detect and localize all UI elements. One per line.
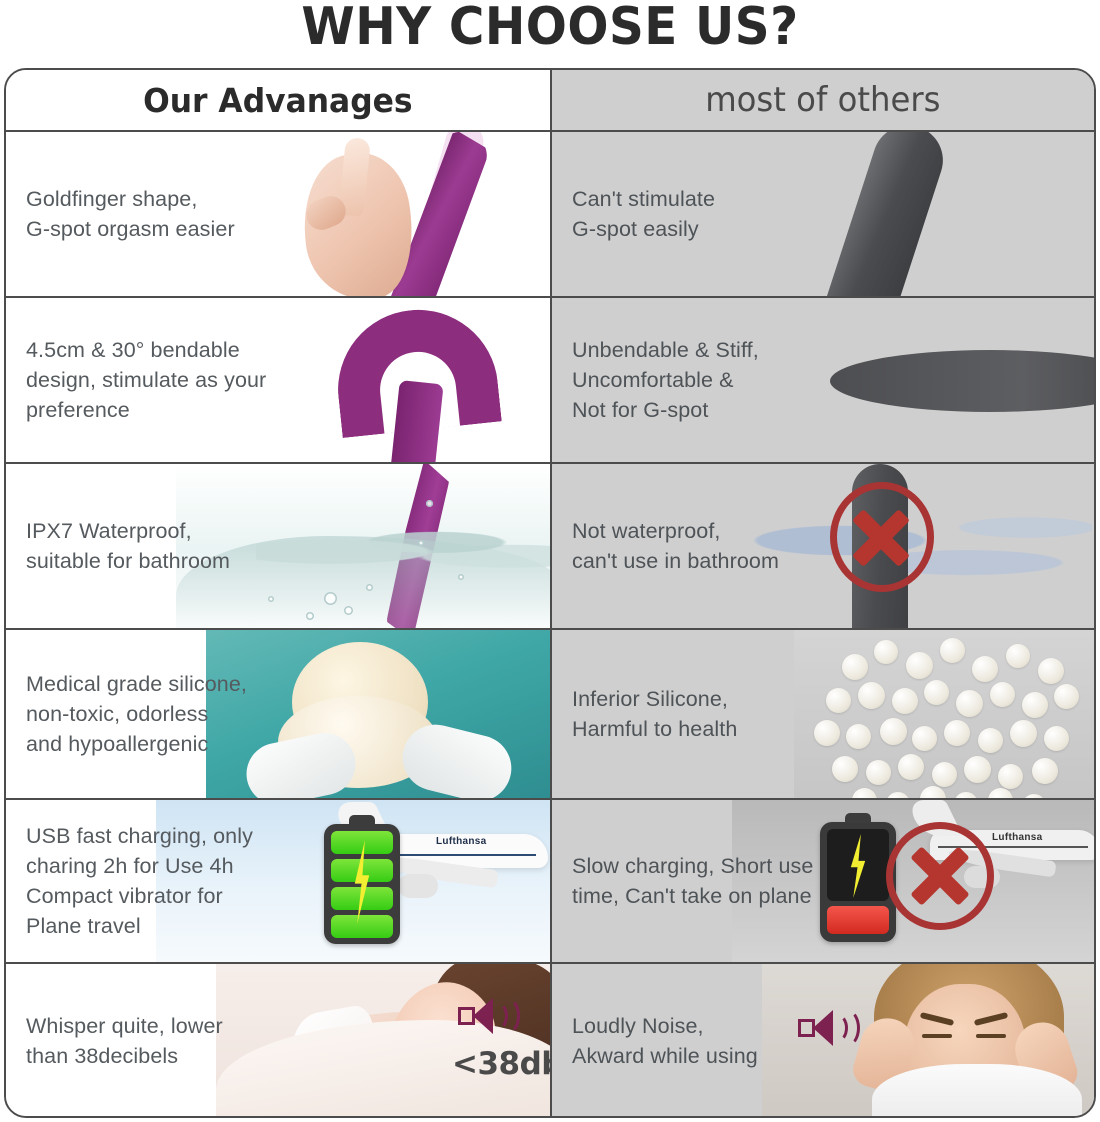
row-noise-advantage-text: Whisper quite, lower than 38decibels (6, 1011, 223, 1071)
table-header-row: Our Advanages most of others (6, 70, 1094, 132)
header-label-right: most of others (705, 80, 940, 120)
row-waterproof-advantage-text: IPX7 Waterproof, suitable for bathroom (6, 516, 230, 576)
row-waterproof-other-text: Not waterproof, can't use in bathroom (552, 516, 779, 576)
plane-airline-label: Lufthansa (436, 836, 486, 847)
table-row: <38db Whisper quite, lower than 38decibe… (6, 964, 1094, 1118)
speaker-icon (458, 998, 514, 1034)
row-charging-advantage-text: USB fast charging, only charing 2h for U… (6, 821, 253, 941)
row-noise-advantage-cell: <38db Whisper quite, lower than 38decibe… (6, 964, 552, 1118)
header-cell-most-of-others: most of others (552, 70, 1094, 130)
row-goldfinger-other-text: Can't stimulate G-spot easily (552, 184, 715, 244)
table-row: Medical grade silicone, non-toxic, odorl… (6, 630, 1094, 800)
db-badge: <38db (452, 1046, 552, 1082)
table-row: Lufthansa USB fast charging, only charin… (6, 800, 1094, 964)
row-charging-other-text: Slow charging, Short use time, Can't tak… (552, 851, 813, 911)
row-silicone-advantage-cell: Medical grade silicone, non-toxic, odorl… (6, 630, 552, 798)
red-x-icon (848, 510, 914, 566)
table-row: IPX7 Waterproof, suitable for bathroom N… (6, 464, 1094, 630)
speaker-icon (798, 1010, 854, 1046)
infographic-page: WHY CHOOSE US? Our Advanages most of oth… (0, 0, 1100, 1122)
page-title: WHY CHOOSE US? (39, 0, 1062, 58)
row-charging-advantage-cell: Lufthansa USB fast charging, only charin… (6, 800, 552, 962)
row-goldfinger-other-cell: Can't stimulate G-spot easily (552, 132, 1094, 296)
row-waterproof-advantage-cell: IPX7 Waterproof, suitable for bathroom (6, 464, 552, 628)
header-cell-our-advantages: Our Advanages (6, 70, 552, 130)
row-charging-other-cell: Lufthansa Slow charging, Short use time,… (552, 800, 1094, 962)
row-bendable-advantage-text: 4.5cm & 30° bendable design, stimulate a… (6, 335, 266, 425)
row-silicone-advantage-text: Medical grade silicone, non-toxic, odorl… (6, 669, 247, 759)
battery-low-icon (820, 822, 896, 942)
comparison-table: Our Advanages most of others Goldfinger … (4, 68, 1096, 1118)
lightning-bolt-icon (350, 840, 374, 924)
row-waterproof-other-cell: Not waterproof, can't use in bathroom (552, 464, 1094, 628)
plane-airline-label: Lufthansa (992, 832, 1042, 843)
battery-full-icon (324, 824, 400, 944)
row-bendable-other-text: Unbendable & Stiff, Uncomfortable & Not … (552, 335, 759, 425)
red-circle-icon (886, 822, 994, 930)
row-goldfinger-advantage-text: Goldfinger shape, G-spot orgasm easier (6, 184, 235, 244)
row-noise-other-text: Loudly Noise, Akward while using (552, 1011, 758, 1071)
row-noise-other-cell: Loudly Noise, Akward while using (552, 964, 1094, 1118)
row-goldfinger-advantage-cell: Goldfinger shape, G-spot orgasm easier (6, 132, 552, 296)
table-row: Goldfinger shape, G-spot orgasm easier C… (6, 132, 1094, 298)
red-x-icon (906, 848, 974, 904)
row-bendable-other-cell: Unbendable & Stiff, Uncomfortable & Not … (552, 298, 1094, 462)
lightning-bolt-icon (846, 834, 870, 898)
red-circle-icon (830, 482, 934, 592)
row-bendable-advantage-cell: 4.5cm & 30° bendable design, stimulate a… (6, 298, 552, 462)
row-silicone-other-text: Inferior Silicone, Harmful to health (552, 684, 737, 744)
header-label-left: Our Advanages (143, 81, 412, 120)
table-row: 4.5cm & 30° bendable design, stimulate a… (6, 298, 1094, 464)
row-silicone-other-cell: Inferior Silicone, Harmful to health (552, 630, 1094, 798)
